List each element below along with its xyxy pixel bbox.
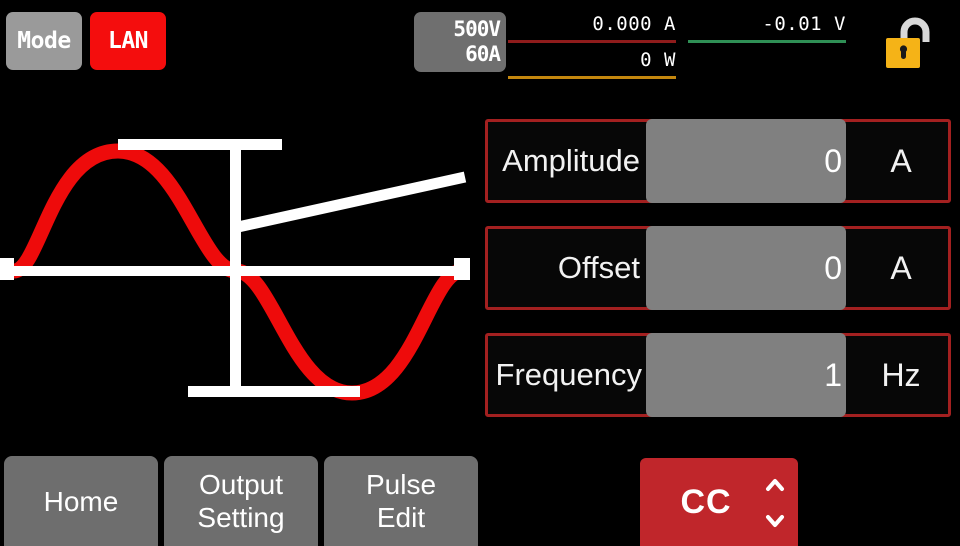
waveform-preview[interactable]: [0, 95, 478, 445]
field-amplitude-unit: A: [854, 122, 948, 200]
current-readout: 0.000 A: [506, 13, 676, 35]
field-frequency-label: Frequency: [488, 336, 648, 414]
output-setting-label-line1: Output: [199, 468, 283, 501]
axis-right-tick: [454, 258, 470, 280]
voltage-underline: [688, 40, 846, 43]
rating-badge: 500V 60A: [414, 12, 506, 72]
status-bar: Mode LAN 500V 60A 0.000 A -0.01 V 0 W: [0, 0, 960, 92]
field-amplitude[interactable]: Amplitude 0 A: [485, 119, 951, 203]
rating-voltage: 500V: [453, 17, 500, 42]
field-amplitude-value[interactable]: 0: [646, 119, 846, 203]
field-amplitude-label: Amplitude: [488, 122, 646, 200]
field-frequency[interactable]: Frequency 1 Hz: [485, 333, 951, 417]
home-button[interactable]: Home: [4, 456, 158, 546]
lan-button-label: LAN: [108, 28, 148, 54]
axis-left-tick: [0, 258, 14, 280]
lan-status-button[interactable]: LAN: [90, 12, 166, 70]
caliper-top-cap: [118, 139, 282, 150]
lock-icon[interactable]: [882, 12, 938, 74]
mode-button[interactable]: Mode: [6, 12, 82, 70]
mode-selector-cc-button[interactable]: CC: [640, 458, 798, 546]
current-underline: [508, 40, 676, 43]
chevron-up-icon: [765, 478, 785, 492]
caliper-stem: [230, 139, 241, 397]
ramp-line: [238, 177, 465, 227]
cc-label: CC: [640, 458, 772, 546]
pulse-edit-label-line2: Edit: [377, 501, 425, 534]
voltage-readout: -0.01 V: [684, 13, 846, 35]
rating-current: 60A: [465, 42, 500, 67]
home-button-label: Home: [44, 485, 119, 518]
field-offset-unit: A: [854, 229, 948, 307]
power-underline: [508, 76, 676, 79]
cc-stepper-arrows[interactable]: [764, 478, 786, 528]
instrument-screen: Mode LAN 500V 60A 0.000 A -0.01 V 0 W: [0, 0, 960, 546]
pulse-edit-label-line1: Pulse: [366, 468, 436, 501]
field-frequency-value[interactable]: 1: [646, 333, 846, 417]
measurement-readouts: 0.000 A -0.01 V 0 W: [506, 10, 846, 82]
output-setting-label-line2: Setting: [197, 501, 284, 534]
pulse-edit-button[interactable]: Pulse Edit: [324, 456, 478, 546]
field-offset-label: Offset: [488, 229, 646, 307]
field-offset[interactable]: Offset 0 A: [485, 226, 951, 310]
mode-button-label: Mode: [17, 28, 70, 54]
field-frequency-unit: Hz: [854, 336, 948, 414]
output-setting-button[interactable]: Output Setting: [164, 456, 318, 546]
chevron-down-icon: [765, 514, 785, 528]
field-offset-value[interactable]: 0: [646, 226, 846, 310]
power-readout: 0 W: [506, 49, 676, 71]
caliper-bottom-cap: [188, 386, 360, 397]
